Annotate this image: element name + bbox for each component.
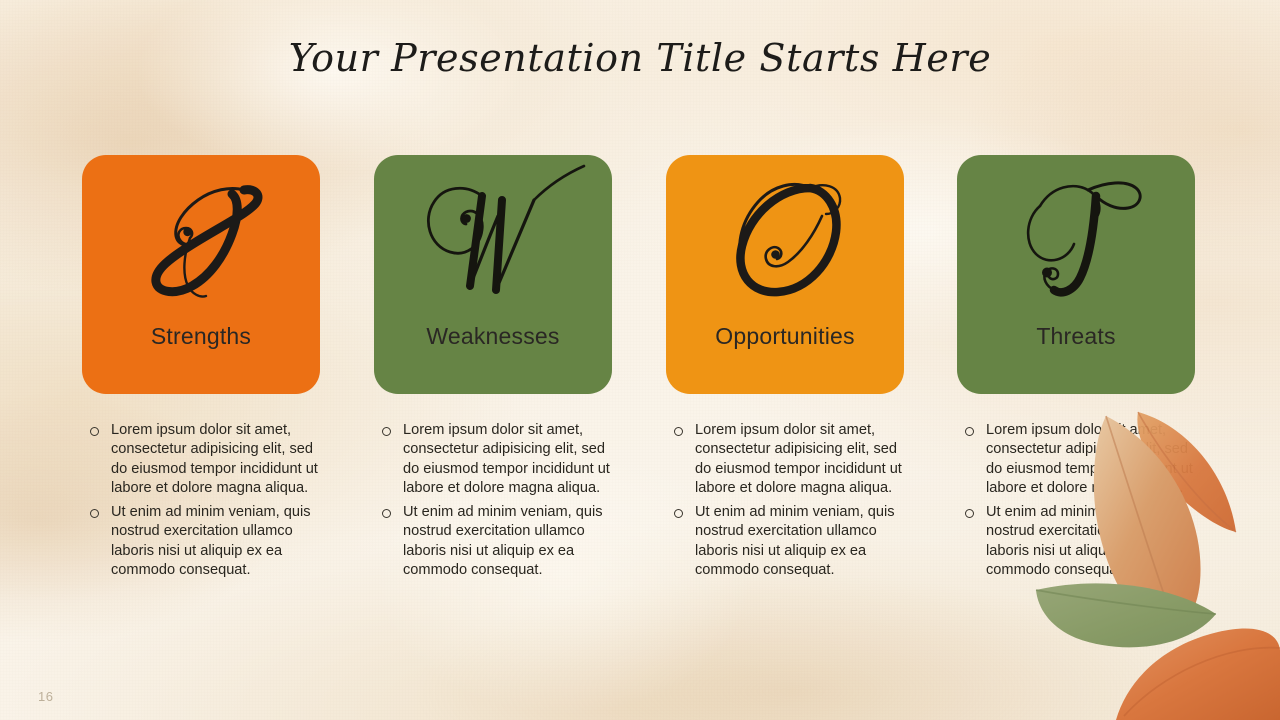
bullet-item: Lorem ipsum dolor sit amet, consectetur … [672,421,904,498]
card-label-strengths: Strengths [82,323,320,350]
bullet-item: Ut enim ad minim veniam, quis nostrud ex… [672,503,904,580]
swot-card-row: Strengths [82,155,1198,394]
swot-card-threats[interactable]: Threats [957,155,1195,394]
swot-card-strengths[interactable]: Strengths [82,155,320,394]
card-label-weaknesses: Weaknesses [374,323,612,350]
swot-card-opportunities[interactable]: Opportunities [666,155,904,394]
bullet-item: Lorem ipsum dolor sit amet, consectetur … [380,421,620,498]
page-title: Your Presentation Title Starts Here [0,36,1280,80]
bullet-item: Ut enim ad minim veniam, quis nostrud ex… [380,503,620,580]
text-column-threats: Lorem ipsum dolor sit amet, consectetur … [963,421,1203,585]
card-background-strengths [82,155,320,394]
bullet-list-threats: Lorem ipsum dolor sit amet, consectetur … [963,421,1203,580]
card-background-threats [957,155,1195,394]
slide-canvas: Your Presentation Title Starts Here Stre… [0,0,1280,720]
card-label-threats: Threats [957,323,1195,350]
bullet-item: Lorem ipsum dolor sit amet, consectetur … [963,421,1203,498]
card-label-opportunities: Opportunities [666,323,904,350]
page-number: 16 [38,689,53,704]
swot-text-columns: Lorem ipsum dolor sit amet, consectetur … [0,421,1280,651]
bullet-list-strengths: Lorem ipsum dolor sit amet, consectetur … [88,421,328,580]
swot-card-weaknesses[interactable]: Weaknesses [374,155,612,394]
bullet-list-opportunities: Lorem ipsum dolor sit amet, consectetur … [672,421,904,580]
bullet-item: Ut enim ad minim veniam, quis nostrud ex… [963,503,1203,580]
bullet-list-weaknesses: Lorem ipsum dolor sit amet, consectetur … [380,421,620,580]
text-column-opportunities: Lorem ipsum dolor sit amet, consectetur … [672,421,904,585]
card-background-opportunities [666,155,904,394]
card-background-weaknesses [374,155,612,394]
bullet-item: Lorem ipsum dolor sit amet, consectetur … [88,421,328,498]
text-column-weaknesses: Lorem ipsum dolor sit amet, consectetur … [380,421,620,585]
text-column-strengths: Lorem ipsum dolor sit amet, consectetur … [88,421,328,585]
bullet-item: Ut enim ad minim veniam, quis nostrud ex… [88,503,328,580]
